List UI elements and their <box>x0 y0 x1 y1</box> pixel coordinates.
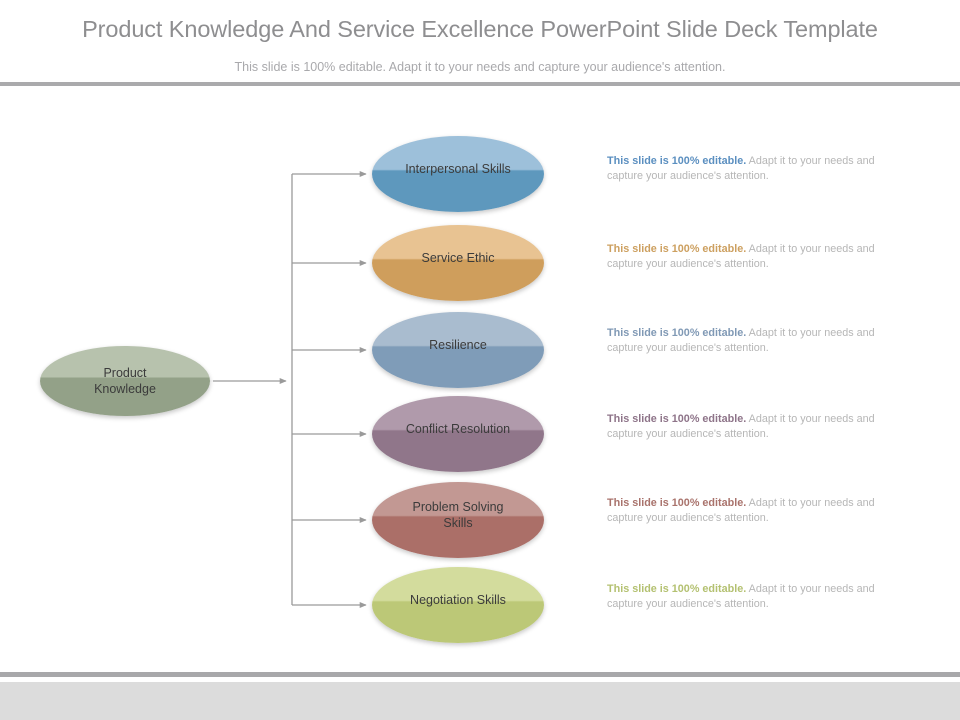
node-label: ProductKnowledge <box>78 365 172 398</box>
node-label: Problem SolvingSkills <box>396 499 519 532</box>
note-block-6: This slide is 100% editable. Adapt it to… <box>607 582 907 612</box>
note-strong: This slide is 100% editable. <box>607 327 746 339</box>
diagram-area: ProductKnowledge Interpersonal Skills Se… <box>0 86 960 672</box>
node-negotiation-skills[interactable]: Negotiation Skills <box>372 567 544 643</box>
node-label: Service Ethic <box>406 250 511 267</box>
node-label: Negotiation Skills <box>394 592 522 609</box>
slide-header: Product Knowledge And Service Excellence… <box>0 0 960 82</box>
node-problem-solving-skills[interactable]: Problem SolvingSkills <box>372 482 544 558</box>
node-label: Resilience <box>413 337 503 354</box>
node-interpersonal-skills[interactable]: Interpersonal Skills <box>372 136 544 212</box>
page-title: Product Knowledge And Service Excellence… <box>0 16 960 43</box>
note-block-2: This slide is 100% editable. Adapt it to… <box>607 242 907 272</box>
note-strong: This slide is 100% editable. <box>607 155 746 167</box>
node-label: Interpersonal Skills <box>389 161 527 178</box>
note-strong: This slide is 100% editable. <box>607 243 746 255</box>
slide-subtitle: This slide is 100% editable. Adapt it to… <box>0 60 960 74</box>
node-service-ethic[interactable]: Service Ethic <box>372 225 544 301</box>
footer-divider <box>0 672 960 677</box>
note-block-1: This slide is 100% editable. Adapt it to… <box>607 154 907 184</box>
note-block-3: This slide is 100% editable. Adapt it to… <box>607 326 907 356</box>
footer-band <box>0 682 960 720</box>
note-block-5: This slide is 100% editable. Adapt it to… <box>607 496 907 526</box>
note-block-4: This slide is 100% editable. Adapt it to… <box>607 412 907 442</box>
node-conflict-resolution[interactable]: Conflict Resolution <box>372 396 544 472</box>
note-strong: This slide is 100% editable. <box>607 413 746 425</box>
node-label: Conflict Resolution <box>390 421 526 438</box>
slide-canvas: Product Knowledge And Service Excellence… <box>0 0 960 720</box>
note-strong: This slide is 100% editable. <box>607 583 746 595</box>
node-product-knowledge[interactable]: ProductKnowledge <box>40 346 210 416</box>
note-strong: This slide is 100% editable. <box>607 497 746 509</box>
node-resilience[interactable]: Resilience <box>372 312 544 388</box>
